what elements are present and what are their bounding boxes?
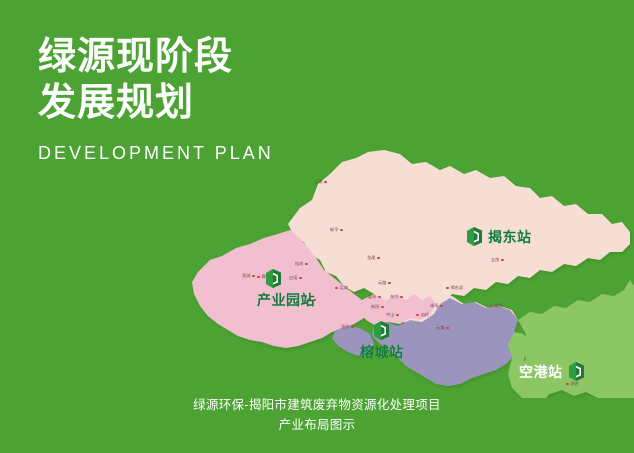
city-dot-icon [388,282,391,285]
page-title-line-2: 发展规划 [38,80,274,126]
city-label: 玉湖 [314,180,327,184]
station-label: 空港站 [519,362,563,382]
title-block: 绿源现阶段 发展规划 DEVELOPMENT PLAN [38,34,274,164]
city-dot-icon [490,305,493,308]
station-marker-konggang[interactable]: 空港站 [519,361,585,382]
lvyuan-logo-icon [466,226,483,247]
city-dot-icon [335,287,338,290]
station-marker-chanyeyuan[interactable]: 产业园站 [257,268,315,310]
city-label: 龙尾 [367,256,380,260]
city-label: 新阳 [371,305,384,309]
city-label: 中山 [386,313,399,317]
station-marker-rongcheng[interactable]: 榕城站 [360,320,404,362]
city-dot-icon [377,257,380,260]
city-label: 揭东县 [446,286,463,290]
city-label: 东兴 [390,295,403,299]
city-label: 磐东 [368,295,381,299]
city-dot-icon [566,383,569,386]
station-label: 揭东站 [488,227,532,247]
city-label: 渔湖 [242,274,255,278]
lvyuan-logo-icon [568,361,585,382]
station-label: 榕城站 [360,342,404,362]
page-subtitle-english: DEVELOPMENT PLAN [38,143,274,164]
city-label: 炮台 [566,382,579,386]
city-dot-icon [416,314,419,317]
city-label: 仙桥 [416,313,429,317]
caption-block: 绿源环保-揭阳市建筑废弃物资源化处理项目 产业布局图示 [0,395,634,436]
city-label: 月城 [335,286,348,290]
city-dot-icon [446,327,449,330]
city-label: 登岗 [490,304,503,308]
station-label: 产业园站 [257,290,315,310]
city-dot-icon [305,263,308,266]
city-dot-icon [378,296,381,299]
city-dot-icon [400,296,403,299]
city-dot-icon [440,305,443,308]
poster-root: 绿源现阶段 发展规划 DEVELOPMENT PLAN [0,0,634,453]
city-label: 五房 [491,258,504,262]
city-dot-icon [252,275,255,278]
city-label: 新亨 [330,228,343,232]
caption-line-2: 产业布局图示 [0,415,634,435]
city-label: 龙砂 [341,325,354,329]
city-dot-icon [396,314,399,317]
lvyuan-logo-icon [265,268,282,289]
city-label: 云角 [436,326,449,330]
caption-line-1: 绿源环保-揭阳市建筑废弃物资源化处理项目 [0,395,634,415]
station-marker-jiedong[interactable]: 揭东站 [466,226,532,247]
page-title-line-1: 绿源现阶段 [38,34,274,80]
city-dot-icon [340,229,343,232]
city-dot-icon [324,181,327,184]
city-dot-icon [381,306,384,309]
city-dot-icon [446,287,449,290]
city-dot-icon [501,259,504,262]
city-label: 桂岭 [295,262,308,266]
lvyuan-logo-icon [373,320,390,341]
city-label: 云路 [378,281,391,285]
city-label: 锡场 [430,304,443,308]
city-dot-icon [351,326,354,329]
